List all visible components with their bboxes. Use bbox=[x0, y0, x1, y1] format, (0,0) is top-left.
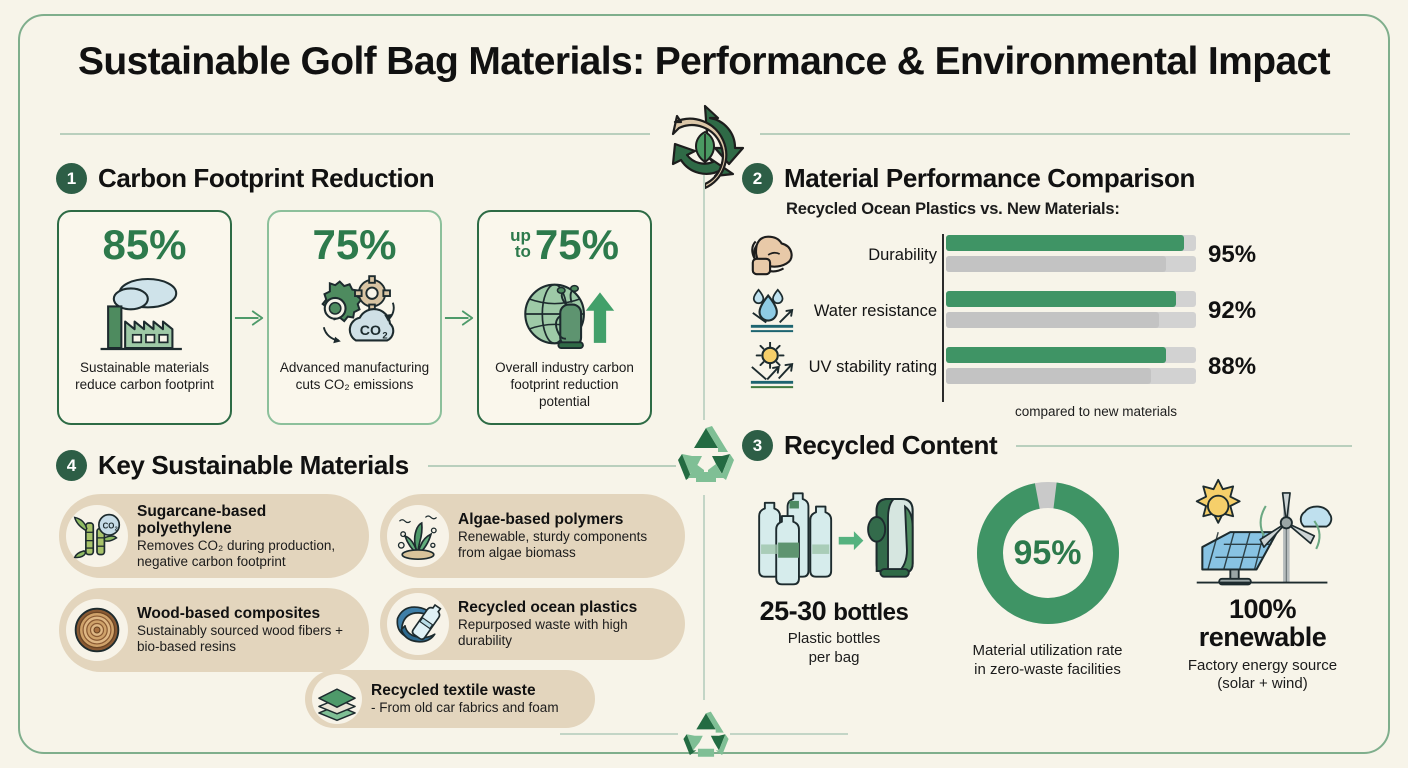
bottles-count: 25-30 bottles bbox=[739, 597, 929, 625]
bottles-to-golfbag-icon bbox=[739, 478, 929, 597]
material-card-algae-text: Algae-based polymers Renewable, sturdy c… bbox=[449, 511, 685, 560]
stat-card-3-prefix: upto bbox=[510, 228, 531, 266]
recycled-item-bottles: 25-30 bottles Plastic bottles per bag bbox=[739, 478, 929, 668]
section-1-badge: 1 bbox=[56, 163, 87, 194]
bottles-count-value: 25-30 bbox=[760, 596, 827, 626]
carbon-footprint-cards: 85% Sustainable materials reduce carbon … bbox=[57, 210, 677, 425]
textile-layers-icon bbox=[312, 674, 362, 724]
material-desc-2: Sustainably sourced wood fibers + bio-ba… bbox=[137, 623, 357, 655]
section-2-title: Material Performance Comparison bbox=[784, 163, 1195, 194]
recycled-item-renewable: 100% renewable Factory energy source (so… bbox=[1165, 478, 1360, 694]
material-card-algae[interactable]: Algae-based polymers Renewable, sturdy c… bbox=[380, 494, 685, 578]
title-divider-right bbox=[760, 133, 1350, 135]
chart-bars-0 bbox=[946, 235, 1196, 272]
material-card-textile[interactable]: Recycled textile waste - From old car fa… bbox=[305, 670, 595, 728]
material-desc-1: Renewable, sturdy components from algae … bbox=[458, 529, 673, 561]
bottom-divider-right bbox=[730, 733, 848, 735]
bottles-caption: Plastic bottles per bag bbox=[739, 630, 929, 668]
recycle-icon-middle bbox=[672, 424, 740, 486]
materials-list: CO 2 Sugarcane-based polyethylene Remove… bbox=[55, 490, 685, 725]
material-card-sugarcane-text: Sugarcane-based polyethylene Removes CO₂… bbox=[128, 503, 369, 570]
bar-fill-0 bbox=[946, 235, 1184, 251]
recycled-content-row: 25-30 bottles Plastic bottles per bag 95… bbox=[735, 478, 1360, 708]
renewable-value: 100% renewable bbox=[1165, 595, 1360, 652]
stat-card-1-value-wrap: 85% bbox=[102, 224, 186, 266]
svg-text:2: 2 bbox=[382, 331, 387, 342]
bottles-caption-line2: per bag bbox=[739, 649, 929, 668]
material-name-3: Recycled ocean plastics bbox=[458, 599, 673, 617]
chart-value-0: 95% bbox=[1208, 230, 1256, 280]
gears-co2-icon: CO 2 bbox=[303, 268, 407, 360]
material-name-0: Sugarcane-based polyethylene bbox=[137, 503, 357, 538]
material-name-4: Recycled textile waste bbox=[371, 682, 559, 700]
chart-row-water: Water resistance 92% bbox=[742, 286, 1352, 336]
utilization-caption-line1: Material utilization rate bbox=[940, 642, 1155, 661]
section-3-header: 3 Recycled Content bbox=[742, 430, 1352, 461]
section-4-rule bbox=[428, 465, 676, 467]
chart-row-uv: UV stability rating 88% bbox=[742, 342, 1352, 392]
section-4-badge: 4 bbox=[56, 450, 87, 481]
stat-card-1: 85% Sustainable materials reduce carbon … bbox=[57, 210, 232, 425]
material-desc-4: - From old car fabrics and foam bbox=[371, 700, 559, 716]
water-droplet-repel-icon bbox=[747, 286, 799, 336]
stat-card-1-value: 85% bbox=[102, 224, 186, 266]
section-4-title: Key Sustainable Materials bbox=[98, 450, 409, 481]
material-card-wood[interactable]: Wood-based composites Sustainably source… bbox=[59, 588, 369, 672]
bar-track-ref-0 bbox=[946, 256, 1196, 272]
algae-seaweed-icon bbox=[387, 505, 449, 567]
sun-uv-icon bbox=[747, 342, 799, 392]
bar-track-2 bbox=[946, 347, 1196, 363]
material-desc-3: Repurposed waste with high durability bbox=[458, 617, 673, 649]
material-desc-0: Removes CO₂ during production, negative … bbox=[137, 538, 357, 570]
bicep-muscle-icon bbox=[747, 230, 799, 280]
donut-chart-icon: 95% bbox=[973, 478, 1123, 628]
material-card-sugarcane[interactable]: CO 2 Sugarcane-based polyethylene Remove… bbox=[59, 494, 369, 578]
chart-row-durability: Durability 95% bbox=[742, 230, 1352, 280]
utilization-caption: Material utilization rate in zero-waste … bbox=[940, 642, 1155, 680]
bar-fill-2 bbox=[946, 347, 1166, 363]
section-2-badge: 2 bbox=[742, 163, 773, 194]
section-4-header: 4 Key Sustainable Materials bbox=[56, 450, 676, 481]
bar-fill-ref-2 bbox=[946, 368, 1151, 384]
bottles-count-unit: bottles bbox=[833, 599, 908, 626]
flow-arrow-1 bbox=[232, 210, 267, 425]
flow-arrow-2 bbox=[442, 210, 477, 425]
title-divider-left bbox=[60, 133, 650, 135]
bottles-caption-line1: Plastic bottles bbox=[739, 630, 929, 649]
stat-card-1-caption: Sustainable materials reduce carbon foot… bbox=[59, 360, 230, 394]
svg-text:2: 2 bbox=[115, 526, 118, 532]
material-card-textile-text: Recycled textile waste - From old car fa… bbox=[362, 682, 571, 715]
bottom-divider-left bbox=[560, 733, 678, 735]
bar-track-0 bbox=[946, 235, 1196, 251]
svg-text:CO: CO bbox=[359, 323, 380, 339]
chart-label-0: Durability bbox=[802, 230, 937, 280]
stat-card-2-value: 75% bbox=[312, 224, 396, 266]
chart-bars-1 bbox=[946, 291, 1196, 328]
chart-value-1: 92% bbox=[1208, 286, 1256, 336]
recycle-icon-bottom bbox=[678, 710, 734, 760]
stat-card-3-value: 75% bbox=[535, 224, 619, 266]
recycled-item-utilization: 95% Material utilization rate in zero-wa… bbox=[940, 478, 1155, 680]
stat-card-2: 75% C bbox=[267, 210, 442, 425]
stat-card-3-value-wrap: upto 75% bbox=[510, 224, 619, 266]
sugarcane-co2-icon: CO 2 bbox=[66, 505, 128, 567]
renewable-value-number: 100% bbox=[1165, 595, 1360, 623]
stat-card-3-caption: Overall industry carbon footprint reduct… bbox=[479, 360, 650, 411]
section-3-badge: 3 bbox=[742, 430, 773, 461]
bar-fill-1 bbox=[946, 291, 1176, 307]
wood-log-rings-icon bbox=[66, 599, 128, 661]
ocean-wave-bottle-icon bbox=[387, 593, 449, 655]
page-title: Sustainable Golf Bag Materials: Performa… bbox=[0, 40, 1408, 84]
utilization-caption-line2: in zero-waste facilities bbox=[940, 661, 1155, 680]
stat-card-2-value-wrap: 75% bbox=[312, 224, 396, 266]
bar-track-ref-1 bbox=[946, 312, 1196, 328]
section-1-title: Carbon Footprint Reduction bbox=[98, 163, 434, 194]
renewable-caption-line1: Factory energy source bbox=[1165, 657, 1360, 676]
bar-track-ref-2 bbox=[946, 368, 1196, 384]
globe-golfbag-arrow-icon bbox=[513, 268, 617, 360]
recycle-leaf-icon bbox=[655, 96, 755, 196]
chart-value-2: 88% bbox=[1208, 342, 1256, 392]
vertical-divider-upper bbox=[703, 175, 705, 420]
chart-footnote: compared to new materials bbox=[946, 404, 1246, 419]
stat-card-3: upto 75% bbox=[477, 210, 652, 425]
stat-card-2-caption: Advanced manufacturing cuts CO₂ emission… bbox=[269, 360, 440, 394]
vertical-divider-lower bbox=[703, 495, 705, 700]
renewable-caption: Factory energy source (solar + wind) bbox=[1165, 657, 1360, 695]
bar-fill-ref-1 bbox=[946, 312, 1159, 328]
section-1-header: 1 Carbon Footprint Reduction bbox=[56, 163, 434, 194]
section-3-rule bbox=[1016, 445, 1352, 447]
factory-emissions-icon bbox=[93, 268, 197, 360]
material-name-2: Wood-based composites bbox=[137, 605, 357, 623]
section-2-header: 2 Material Performance Comparison bbox=[742, 163, 1195, 194]
renewable-value-unit: renewable bbox=[1165, 623, 1360, 651]
infographic-root: Sustainable Golf Bag Materials: Performa… bbox=[0, 0, 1408, 768]
donut-value-label: 95% bbox=[973, 478, 1123, 628]
solar-wind-icon bbox=[1165, 478, 1360, 595]
material-card-ocean-plastics[interactable]: Recycled ocean plastics Repurposed waste… bbox=[380, 588, 685, 660]
material-card-ocean-plastics-text: Recycled ocean plastics Repurposed waste… bbox=[449, 599, 685, 648]
bar-fill-ref-0 bbox=[946, 256, 1166, 272]
chart-label-2: UV stability rating bbox=[802, 342, 937, 392]
performance-bar-chart: Durability 95% bbox=[742, 228, 1352, 413]
section-2-subtitle: Recycled Ocean Plastics vs. New Material… bbox=[786, 200, 1120, 219]
renewable-caption-line2: (solar + wind) bbox=[1165, 675, 1360, 694]
svg-text:CO: CO bbox=[103, 522, 115, 531]
material-name-1: Algae-based polymers bbox=[458, 511, 673, 529]
chart-label-1: Water resistance bbox=[802, 286, 937, 336]
bar-track-1 bbox=[946, 291, 1196, 307]
section-3-title: Recycled Content bbox=[784, 430, 997, 461]
material-card-wood-text: Wood-based composites Sustainably source… bbox=[128, 605, 369, 654]
chart-bars-2 bbox=[946, 347, 1196, 384]
